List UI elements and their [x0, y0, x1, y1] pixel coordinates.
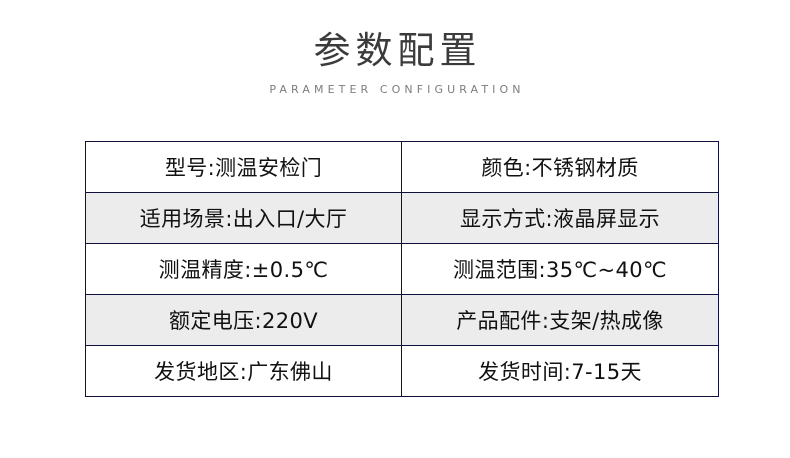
spec-cell-scenario: 适用场景:出入口/大厅	[86, 193, 402, 244]
spec-cell-range: 测温范围:35℃~40℃	[402, 244, 719, 295]
spec-cell-display-mode: 显示方式:液晶屏显示	[402, 193, 719, 244]
table-row: 测温精度:±0.5℃ 测温范围:35℃~40℃	[86, 244, 719, 295]
spec-cell-model: 型号:测温安检门	[86, 142, 402, 193]
spec-cell-voltage: 额定电压:220V	[86, 295, 402, 346]
table-row: 额定电压:220V 产品配件:支架/热成像	[86, 295, 719, 346]
page-header: 参数配置 PARAMETER CONFIGURATION	[0, 0, 790, 97]
spec-cell-ship-region: 发货地区:广东佛山	[86, 346, 402, 397]
specification-table: 型号:测温安检门 颜色:不锈钢材质 适用场景:出入口/大厅 显示方式:液晶屏显示…	[85, 141, 719, 397]
page-title: 参数配置	[0, 0, 790, 76]
table-row: 型号:测温安检门 颜色:不锈钢材质	[86, 142, 719, 193]
spec-cell-ship-time: 发货时间:7-15天	[402, 346, 719, 397]
spec-cell-accessories: 产品配件:支架/热成像	[402, 295, 719, 346]
specification-table-body: 型号:测温安检门 颜色:不锈钢材质 适用场景:出入口/大厅 显示方式:液晶屏显示…	[86, 142, 719, 397]
table-row: 适用场景:出入口/大厅 显示方式:液晶屏显示	[86, 193, 719, 244]
page-subtitle: PARAMETER CONFIGURATION	[0, 76, 790, 97]
spec-cell-color: 颜色:不锈钢材质	[402, 142, 719, 193]
parameter-configuration-page: 参数配置 PARAMETER CONFIGURATION 型号:测温安检门 颜色…	[0, 0, 790, 458]
spec-cell-accuracy: 测温精度:±0.5℃	[86, 244, 402, 295]
table-row: 发货地区:广东佛山 发货时间:7-15天	[86, 346, 719, 397]
